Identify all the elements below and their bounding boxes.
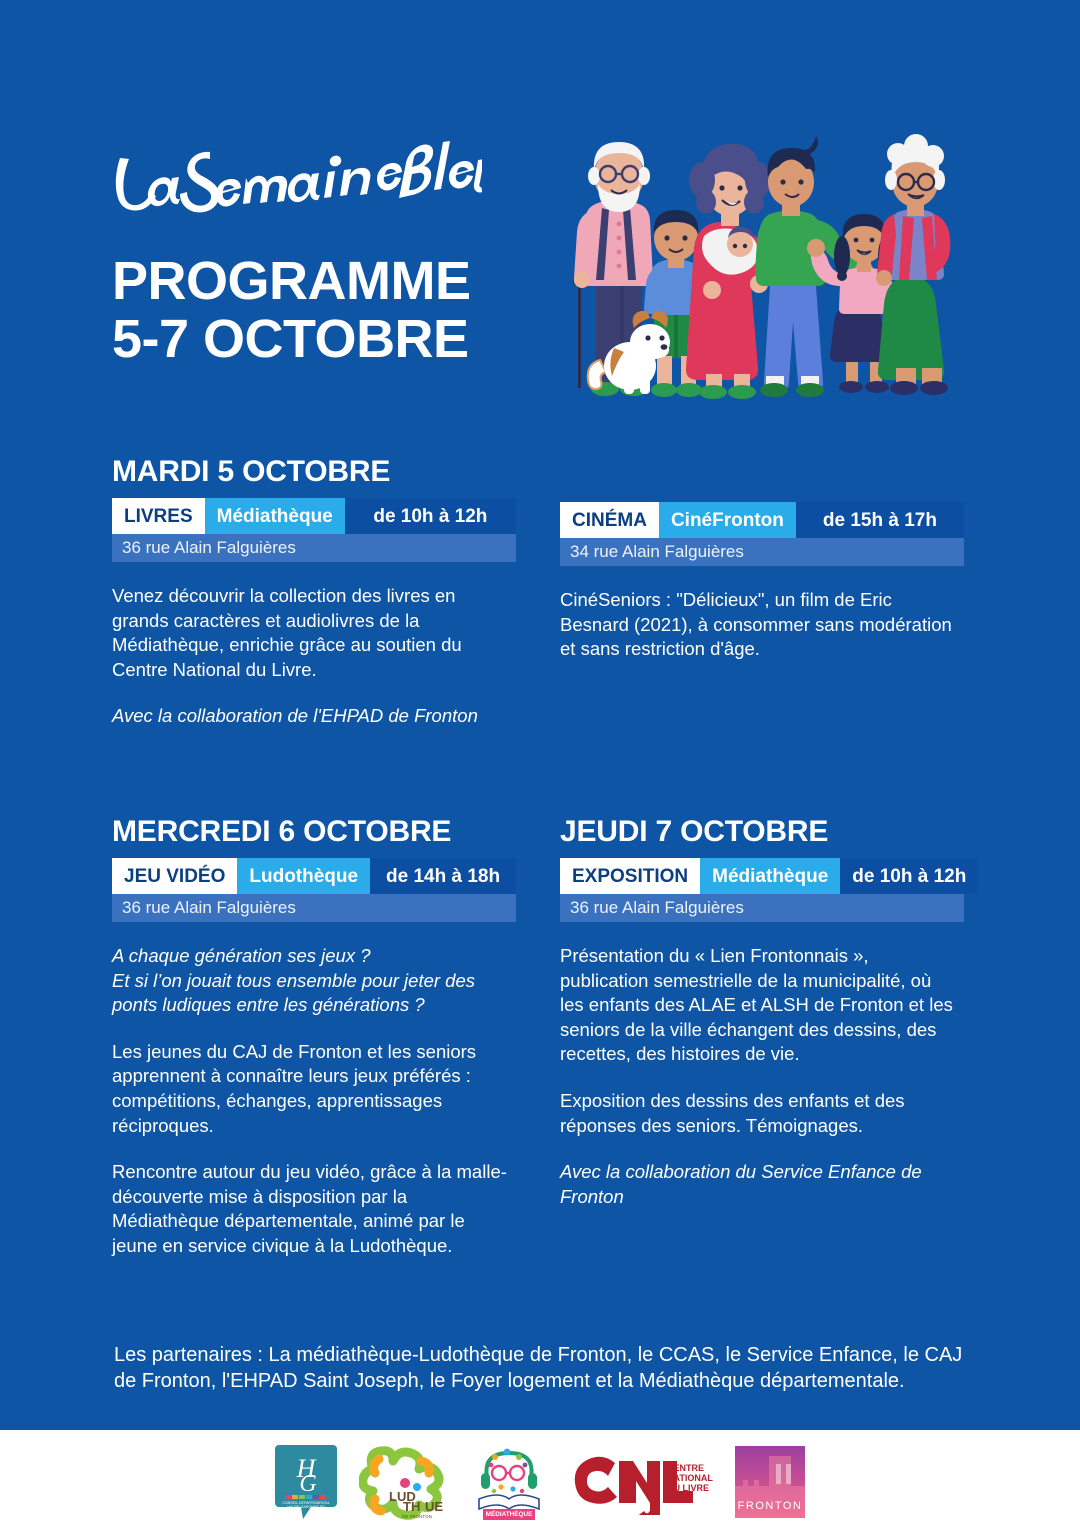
badge-time-cinema: de 15h à 17h — [796, 502, 964, 538]
ludotheque-logo: LUD TH UE DE FRONTON — [359, 1443, 447, 1521]
badge-category-livres: LIVRES — [112, 498, 205, 534]
day-title-jeudi: JEUDI 7 OCTOBRE — [560, 815, 955, 849]
address-cinema: 34 rue Alain Falguières — [560, 538, 964, 566]
svg-text:MÉDIATHÈQUE: MÉDIATHÈQUE — [486, 1509, 533, 1518]
program-grid: MARDI 5 OCTOBRE LIVRES Médiathèque de 10… — [0, 455, 1080, 1285]
description-cinema: CinéSeniors : "Délicieux", un film de Er… — [560, 588, 955, 662]
address-jeu-video: 36 rue Alain Falguières — [112, 894, 516, 922]
event-card-exposition: JEUDI 7 OCTOBRE EXPOSITION Médiathèque d… — [560, 815, 955, 1209]
mediatheque-logo: MÉDIATHÈQUE — [469, 1443, 549, 1521]
badge-time-livres: de 10h à 12h — [345, 498, 516, 534]
svg-text:DU LIVRE: DU LIVRE — [667, 1483, 709, 1493]
badge-time-jeu-video: de 14h à 18h — [370, 858, 516, 894]
badge-row-livres: LIVRES Médiathèque de 10h à 12h — [112, 498, 516, 534]
event-card-jeu-video: MERCREDI 6 OCTOBRE JEU VIDÉO Ludothèque … — [112, 815, 507, 1259]
description-jeu-video-1: Les jeunes du CAJ de Fronton et les seni… — [112, 1040, 507, 1138]
note-exposition: Avec la collaboration du Service Enfance… — [560, 1160, 955, 1209]
svg-text:TH: TH — [403, 1499, 420, 1514]
badge-venue-cinema: CinéFronton — [659, 502, 796, 538]
poster-header: PROGRAMME 5-7 OCTOBRE — [0, 0, 1080, 430]
badge-row-jeu-video: JEU VIDÉO Ludothèque de 14h à 18h — [112, 858, 516, 894]
grandmother-figure — [876, 134, 950, 395]
badge-row-cinema: CINÉMA CinéFronton de 15h à 17h — [560, 502, 964, 538]
program-row-mardi: MARDI 5 OCTOBRE LIVRES Médiathèque de 10… — [0, 455, 1080, 815]
badge-row-exposition: EXPOSITION Médiathèque de 10h à 12h — [560, 858, 964, 894]
badge-venue-jeu-video: Ludothèque — [237, 858, 370, 894]
program-row-mercredi-jeudi: MERCREDI 6 OCTOBRE JEU VIDÉO Ludothèque … — [0, 815, 1080, 1285]
partners-text: Les partenaires : La médiathèque-Ludothè… — [114, 1343, 974, 1394]
address-exposition: 36 rue Alain Falguières — [560, 894, 964, 922]
description-jeu-video-2: Rencontre autour du jeu vidéo, grâce à l… — [112, 1160, 507, 1258]
brand-block: PROGRAMME 5-7 OCTOBRE — [112, 140, 512, 369]
description-livres: Venez découvrir la collection des livres… — [112, 584, 507, 682]
page-title: PROGRAMME 5-7 OCTOBRE — [112, 252, 512, 369]
badge-venue-livres: Médiathèque — [205, 498, 345, 534]
svg-text:CENTRE: CENTRE — [667, 1463, 704, 1473]
svg-text:G: G — [299, 1471, 316, 1497]
note-livres: Avec la collaboration de l'EHPAD de Fron… — [112, 704, 507, 729]
description-exposition-1: Présentation du « Lien Frontonnais », pu… — [560, 944, 955, 1067]
description-exposition-2: Exposition des dessins des enfants et de… — [560, 1089, 955, 1138]
la-semaine-bleue-logo — [112, 140, 482, 230]
badge-category-jeu-video: JEU VIDÉO — [112, 858, 237, 894]
badge-time-exposition: de 10h à 12h — [840, 858, 978, 894]
event-card-cinema: CINÉMA CinéFronton de 15h à 17h 34 rue A… — [560, 502, 955, 662]
intro-jeu-video: A chaque génération ses jeux ? Et si l’o… — [112, 944, 507, 1018]
svg-text:HAUTE-GARONNE.FR: HAUTE-GARONNE.FR — [287, 1505, 325, 1509]
badge-category-cinema: CINÉMA — [560, 502, 659, 538]
day-title-mercredi: MERCREDI 6 OCTOBRE — [112, 815, 507, 849]
event-card-livres: MARDI 5 OCTOBRE LIVRES Médiathèque de 10… — [112, 455, 507, 729]
family-illustration — [558, 128, 968, 400]
svg-text:DE FRONTON: DE FRONTON — [402, 1514, 432, 1519]
fronton-logo: FRONTON — [735, 1446, 805, 1518]
badge-category-exposition: EXPOSITION — [560, 858, 700, 894]
footer-logo-bar: H G CONSEIL DÉPARTEMENTAL HAUTE-GARONNE.… — [0, 1430, 1080, 1533]
address-livres: 36 rue Alain Falguières — [112, 534, 516, 562]
haute-garonne-logo: H G CONSEIL DÉPARTEMENTAL HAUTE-GARONNE.… — [275, 1443, 337, 1521]
cnl-logo: CENTRE NATIONAL DU LIVRE — [571, 1449, 713, 1515]
poster-root: PROGRAMME 5-7 OCTOBRE — [0, 0, 1080, 1533]
svg-text:NATIONAL: NATIONAL — [667, 1473, 713, 1483]
day-title-mardi: MARDI 5 OCTOBRE — [112, 455, 507, 489]
svg-text:UE: UE — [425, 1499, 443, 1514]
svg-text:FRONTON: FRONTON — [738, 1500, 803, 1512]
badge-venue-exposition: Médiathèque — [700, 858, 840, 894]
